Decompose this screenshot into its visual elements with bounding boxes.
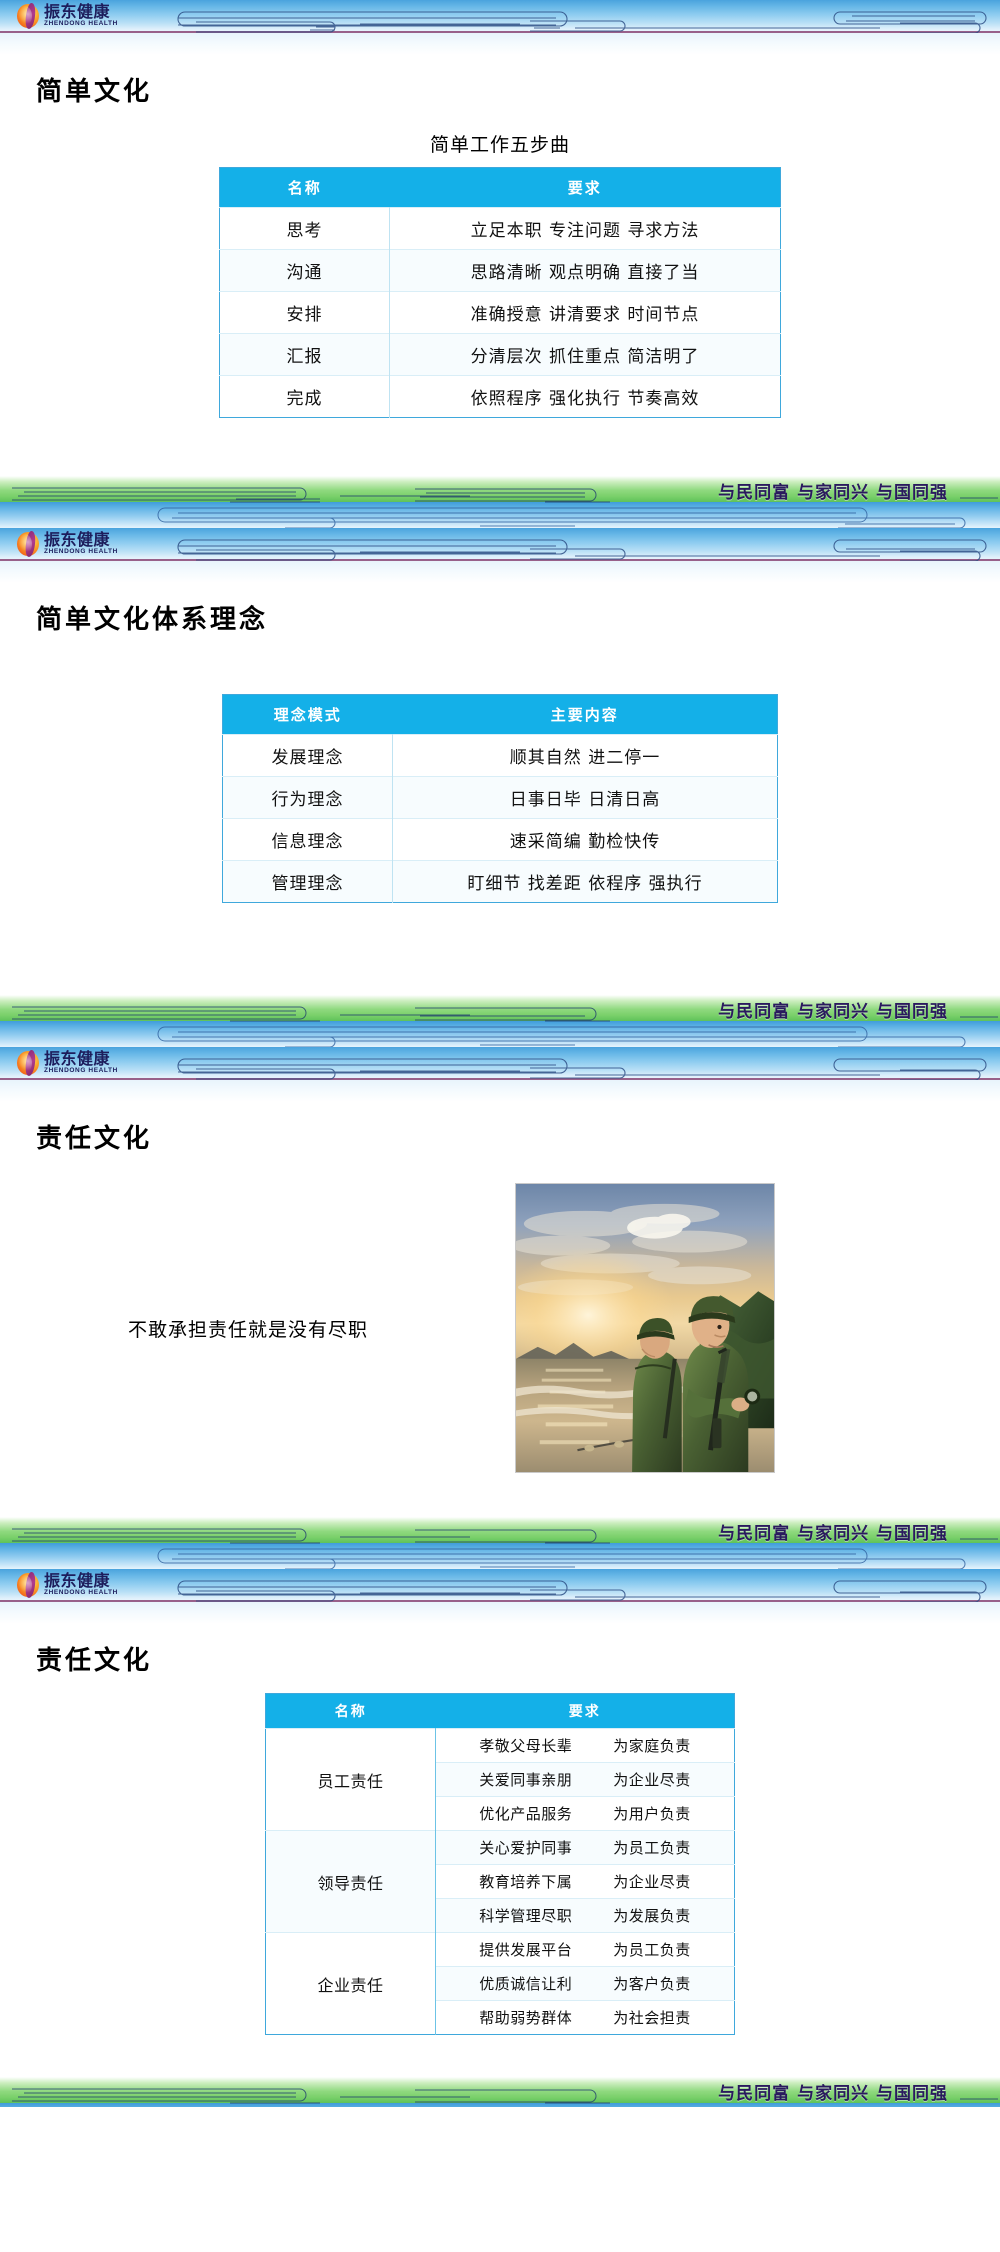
table-header-row: 理念模式 主要内容 — [223, 695, 778, 735]
logo-mark-icon — [17, 1050, 41, 1076]
header-fade — [0, 1080, 1000, 1102]
req-action: 孝敬父母长辈 — [479, 1735, 591, 1756]
cell-name: 完成 — [220, 376, 390, 418]
logo-english-name: ZHENDONG HEALTH — [44, 1590, 118, 1597]
cell-requirement: 优化产品服务 为用户负责 — [436, 1797, 735, 1831]
cell-main-content: 盯细节 找差距 依程序 强执行 — [393, 861, 778, 903]
cell-concept-mode: 行为理念 — [223, 777, 393, 819]
zhendong-logo: 振东健康 ZHENDONG HEALTH — [17, 1572, 118, 1598]
logo-wordmark: 振东健康 ZHENDONG HEALTH — [44, 532, 118, 556]
table-row: 管理理念 盯细节 找差距 依程序 强执行 — [223, 861, 778, 903]
cell-group-name: 领导责任 — [266, 1831, 436, 1933]
company-motto: 与民同富 与家同兴 与国同强 — [718, 478, 948, 503]
page-header-banner: 振东健康 ZHENDONG HEALTH — [0, 1569, 1000, 1602]
banner-decoration — [0, 0, 1000, 33]
logo-english-name: ZHENDONG HEALTH — [44, 1068, 118, 1075]
slide-4-body: 名称 要求 员工责任 孝敬父母长辈 为家庭负责 — [0, 1677, 1000, 2077]
column-header-name: 名称 — [266, 1694, 436, 1729]
req-action: 教育培养下属 — [479, 1871, 591, 1892]
cell-name: 汇报 — [220, 334, 390, 376]
logo-wordmark: 振东健康 ZHENDONG HEALTH — [44, 1051, 118, 1075]
req-action: 优化产品服务 — [479, 1803, 591, 1824]
cell-requirement: 科学管理尽职 为发展负责 — [436, 1899, 735, 1933]
logo-wordmark: 振东健康 ZHENDONG HEALTH — [44, 1573, 118, 1597]
page-header-banner: 振东健康 ZHENDONG HEALTH — [0, 528, 1000, 561]
table-row: 发展理念 顺其自然 进二停一 — [223, 735, 778, 777]
cell-name: 思考 — [220, 208, 390, 250]
culture-concept-table: 理念模式 主要内容 发展理念 顺其自然 进二停一 行为理念 日事日毕 日清日高 … — [222, 694, 778, 903]
cell-group-name: 企业责任 — [266, 1933, 436, 2035]
table-header-row: 名称 要求 — [266, 1694, 735, 1729]
cell-requirement: 立足本职 专注问题 寻求方法 — [390, 208, 781, 250]
table-row: 汇报 分清层次 抓住重点 简洁明了 — [220, 334, 781, 376]
req-action: 关爱同事亲朋 — [479, 1769, 591, 1790]
slide-responsibility-photo: 振东健康 ZHENDONG HEALTH 责任文化 不敢承担责任就是没有尽职 — [0, 1047, 1000, 1517]
slide-1-body: 简单工作五步曲 名称 要求 思考 立足本职 专注问题 寻求方法 沟通 思路清晰 … — [0, 130, 1000, 476]
table-row: 员工责任 孝敬父母长辈 为家庭负责 — [266, 1729, 735, 1763]
header-fade — [0, 1602, 1000, 1624]
req-target: 为客户负责 — [613, 1973, 691, 1994]
req-target: 为企业尽责 — [613, 1769, 691, 1790]
table-row: 完成 依照程序 强化执行 节奏高效 — [220, 376, 781, 418]
req-target: 为家庭负责 — [613, 1735, 691, 1756]
column-header-main-content: 主要内容 — [393, 695, 778, 735]
header-fade — [0, 561, 1000, 583]
column-header-requirement: 要求 — [436, 1694, 735, 1729]
divider-blue-band — [0, 502, 1000, 528]
req-target: 为员工负责 — [613, 1939, 691, 1960]
slide-simple-culture: 振东健康 ZHENDONG HEALTH 简单文化 简单工作五步曲 名称 要求 … — [0, 0, 1000, 476]
logo-english-name: ZHENDONG HEALTH — [44, 21, 118, 28]
table-caption: 简单工作五步曲 — [0, 130, 1000, 157]
column-header-name: 名称 — [220, 168, 390, 208]
table-row: 信息理念 速采简编 勤检快传 — [223, 819, 778, 861]
req-target: 为社会担责 — [613, 2007, 691, 2028]
table-row: 安排 准确授意 讲清要求 时间节点 — [220, 292, 781, 334]
company-motto: 与民同富 与家同兴 与国同强 — [718, 1519, 948, 1544]
page-header-banner: 振东健康 ZHENDONG HEALTH — [0, 1047, 1000, 1080]
page-title: 责任文化 — [36, 1118, 1000, 1155]
cell-requirement: 帮助弱势群体 为社会担责 — [436, 2001, 735, 2035]
slide-3-body: 不敢承担责任就是没有尽职 — [0, 1183, 1000, 1483]
slide-divider: 与民同富 与家同兴 与国同强 — [0, 995, 1000, 1047]
banner-decoration — [0, 1569, 1000, 1602]
slide-culture-system: 振东健康 ZHENDONG HEALTH 简单文化体系理念 理念模式 主要内容 … — [0, 528, 1000, 995]
page-header-banner: 振东健康 ZHENDONG HEALTH — [0, 0, 1000, 33]
cell-requirement: 提供发展平台 为员工负责 — [436, 1933, 735, 1967]
header-fade — [0, 33, 1000, 55]
soldiers-photo — [515, 1183, 775, 1473]
slide-divider: 与民同富 与家同兴 与国同强 — [0, 2077, 1000, 2107]
req-target: 为企业尽责 — [613, 1871, 691, 1892]
cell-requirement: 教育培养下属 为企业尽责 — [436, 1865, 735, 1899]
cell-requirement: 孝敬父母长辈 为家庭负责 — [436, 1729, 735, 1763]
logo-mark-icon — [17, 531, 41, 557]
cell-main-content: 日事日毕 日清日高 — [393, 777, 778, 819]
req-action: 关心爱护同事 — [479, 1837, 591, 1858]
cell-group-name: 员工责任 — [266, 1729, 436, 1831]
req-action: 优质诚信让利 — [479, 1973, 591, 1994]
slide-divider: 与民同富 与家同兴 与国同强 — [0, 476, 1000, 528]
table-row: 领导责任 关心爱护同事 为员工负责 — [266, 1831, 735, 1865]
logo-english-name: ZHENDONG HEALTH — [44, 549, 118, 556]
cell-requirement: 关爱同事亲朋 为企业尽责 — [436, 1763, 735, 1797]
cell-requirement: 优质诚信让利 为客户负责 — [436, 1967, 735, 2001]
req-action: 科学管理尽职 — [479, 1905, 591, 1926]
responsibility-caption: 不敢承担责任就是没有尽职 — [128, 1315, 368, 1342]
table-header-row: 名称 要求 — [220, 168, 781, 208]
logo-mark-icon — [17, 1572, 41, 1598]
divider-blue-band — [0, 1021, 1000, 1047]
req-action: 提供发展平台 — [479, 1939, 591, 1960]
column-header-requirement: 要求 — [390, 168, 781, 208]
page-title: 简单文化 — [36, 71, 1000, 108]
page-title: 简单文化体系理念 — [36, 599, 1000, 636]
cell-concept-mode: 发展理念 — [223, 735, 393, 777]
responsibility-table: 名称 要求 员工责任 孝敬父母长辈 为家庭负责 — [265, 1693, 735, 2035]
logo-chinese-name: 振东健康 — [44, 532, 118, 548]
banner-decoration — [0, 1047, 1000, 1080]
zhendong-logo: 振东健康 ZHENDONG HEALTH — [17, 3, 118, 29]
cell-requirement: 准确授意 讲清要求 时间节点 — [390, 292, 781, 334]
logo-chinese-name: 振东健康 — [44, 1051, 118, 1067]
zhendong-logo: 振东健康 ZHENDONG HEALTH — [17, 531, 118, 557]
cell-name: 沟通 — [220, 250, 390, 292]
logo-mark-icon — [17, 3, 41, 29]
cell-requirement: 思路清晰 观点明确 直接了当 — [390, 250, 781, 292]
page-title: 责任文化 — [36, 1640, 1000, 1677]
cell-requirement: 依照程序 强化执行 节奏高效 — [390, 376, 781, 418]
company-motto: 与民同富 与家同兴 与国同强 — [718, 2079, 948, 2104]
logo-chinese-name: 振东健康 — [44, 4, 118, 20]
cell-concept-mode: 管理理念 — [223, 861, 393, 903]
table-row: 行为理念 日事日毕 日清日高 — [223, 777, 778, 819]
slide-2-body: 理念模式 主要内容 发展理念 顺其自然 进二停一 行为理念 日事日毕 日清日高 … — [0, 636, 1000, 995]
cell-concept-mode: 信息理念 — [223, 819, 393, 861]
req-target: 为发展负责 — [613, 1905, 691, 1926]
column-header-concept-mode: 理念模式 — [223, 695, 393, 735]
banner-decoration — [0, 528, 1000, 561]
cell-requirement: 分清层次 抓住重点 简洁明了 — [390, 334, 781, 376]
logo-chinese-name: 振东健康 — [44, 1573, 118, 1589]
cell-requirement: 关心爱护同事 为员工负责 — [436, 1831, 735, 1865]
cell-name: 安排 — [220, 292, 390, 334]
table-row: 沟通 思路清晰 观点明确 直接了当 — [220, 250, 781, 292]
req-action: 帮助弱势群体 — [479, 2007, 591, 2028]
divider-blue-band — [0, 1543, 1000, 1569]
logo-wordmark: 振东健康 ZHENDONG HEALTH — [44, 4, 118, 28]
five-step-table: 名称 要求 思考 立足本职 专注问题 寻求方法 沟通 思路清晰 观点明确 直接了… — [219, 167, 781, 418]
table-row: 思考 立足本职 专注问题 寻求方法 — [220, 208, 781, 250]
zhendong-logo: 振东健康 ZHENDONG HEALTH — [17, 1050, 118, 1076]
slide-responsibility-table: 振东健康 ZHENDONG HEALTH 责任文化 名称 要求 员工责任 — [0, 1569, 1000, 2077]
req-target: 为用户负责 — [613, 1803, 691, 1824]
cell-main-content: 顺其自然 进二停一 — [393, 735, 778, 777]
req-target: 为员工负责 — [613, 1837, 691, 1858]
company-motto: 与民同富 与家同兴 与国同强 — [718, 997, 948, 1022]
slide-divider: 与民同富 与家同兴 与国同强 — [0, 1517, 1000, 1569]
cell-main-content: 速采简编 勤检快传 — [393, 819, 778, 861]
table-row: 企业责任 提供发展平台 为员工负责 — [266, 1933, 735, 1967]
